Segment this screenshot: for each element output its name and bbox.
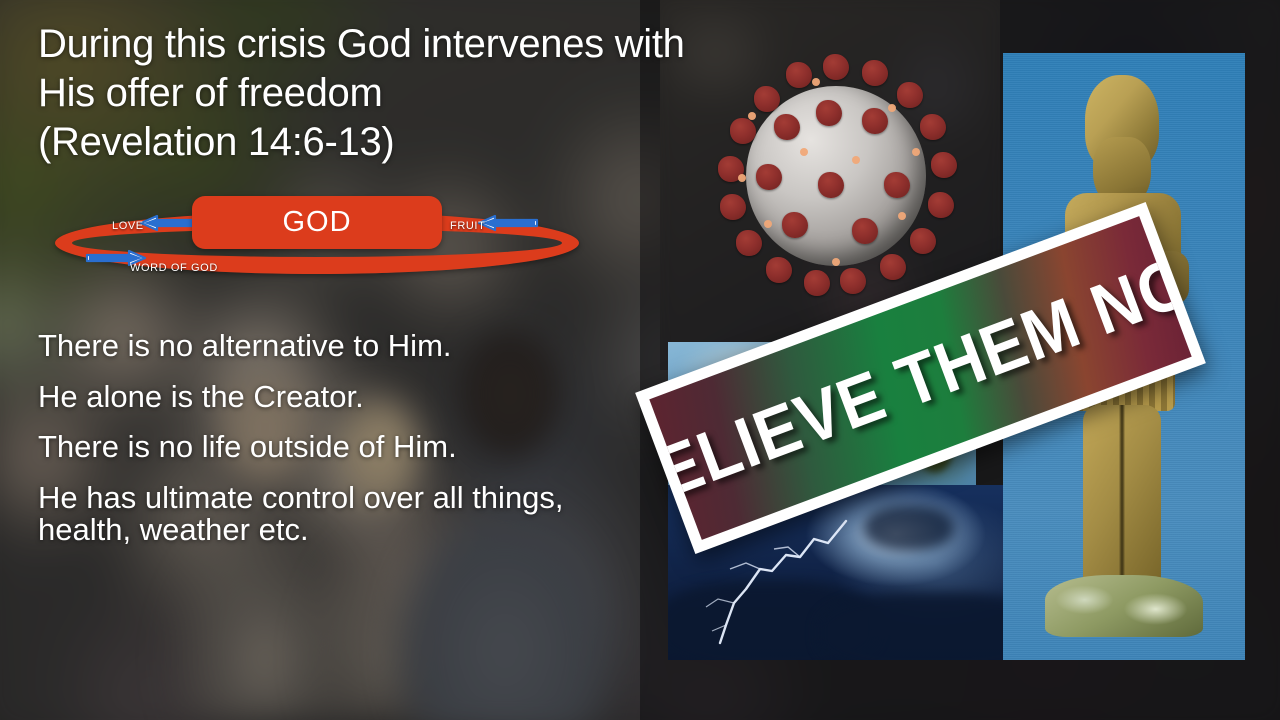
diagram-center-label: GOD	[282, 206, 351, 239]
bullet-list: There is no alternative to Him. He alone…	[38, 330, 638, 547]
title-line-3: (Revelation 14:6-13)	[38, 118, 658, 167]
bullet-item-1: There is no alternative to Him.	[38, 330, 638, 363]
image-collage: BELIEVE THEM NOT	[640, 0, 1280, 720]
virion-graphic	[712, 52, 960, 300]
statue-base	[1045, 575, 1203, 637]
bullet-item-3: There is no life outside of Him.	[38, 431, 638, 464]
god-cycle-diagram: GOD LOVE FRUIT WORD OF GOD	[55, 188, 585, 288]
diagram-label-love: LOVE	[112, 220, 144, 232]
bullet-item-2: He alone is the Creator.	[38, 381, 638, 414]
diagram-label-word-of-god: WORD OF GOD	[130, 262, 218, 274]
statue-legs	[1083, 405, 1161, 595]
diagram-label-fruit: FRUIT	[450, 220, 485, 232]
title-line-2: His offer of freedom	[38, 69, 658, 118]
presentation-slide: BELIEVE THEM NOT During this crisis God …	[0, 0, 1280, 720]
diagram-center-node: GOD	[192, 196, 442, 249]
page-title: During this crisis God intervenes with H…	[38, 20, 658, 168]
bullet-item-4: He has ultimate control over all things,…	[38, 482, 638, 547]
arrow-left-icon-2	[477, 215, 539, 231]
title-line-1: During this crisis God intervenes with	[38, 20, 658, 69]
